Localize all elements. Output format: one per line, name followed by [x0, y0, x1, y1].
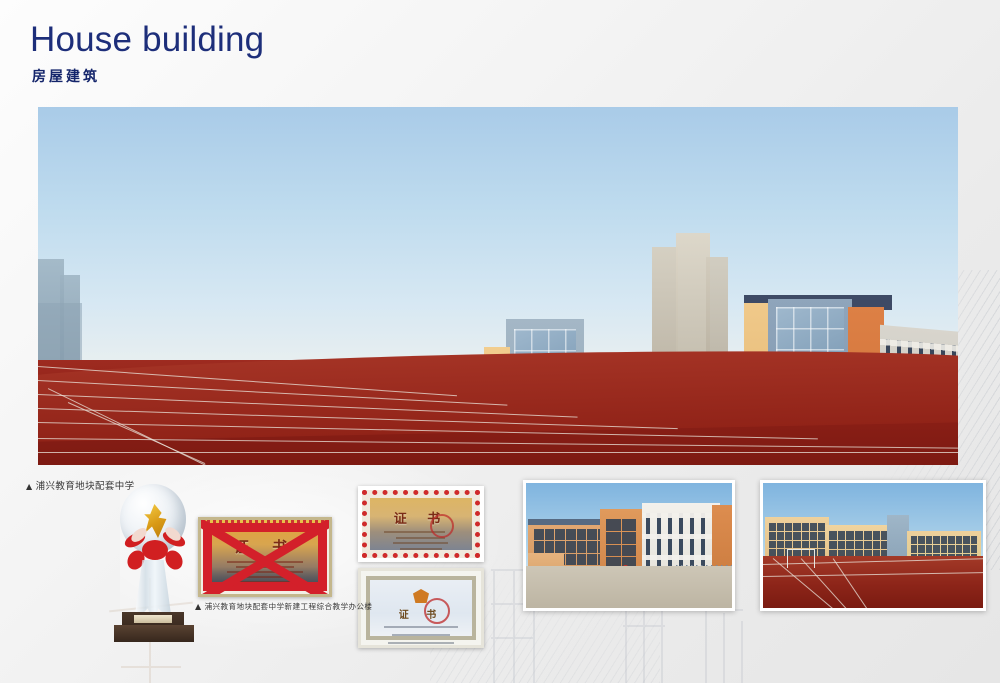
distant-apartment-tower	[676, 233, 710, 363]
crystal-award-trophy	[104, 484, 204, 646]
certificate-crest-icon	[413, 589, 429, 603]
trophy-nameplate	[134, 615, 172, 623]
certificate-dotted-border: 证 书	[358, 486, 484, 562]
photo-foreground-pavement	[526, 566, 732, 609]
certificate-red-border: 证 书	[198, 517, 332, 597]
certificate-blue-frame: 证 书	[358, 568, 484, 648]
certificate-dotted-frame	[362, 490, 480, 558]
certificate-heading: 证 书	[370, 606, 472, 621]
certificate-body-lines	[213, 558, 317, 586]
goalpost	[787, 549, 815, 568]
lane-line	[763, 572, 986, 577]
lane-line	[832, 558, 869, 611]
page-title-cn: 房屋建筑	[32, 66, 264, 86]
certificate-caption-text: 浦兴教育地块配套中学新建工程综合教学办公楼	[205, 602, 373, 611]
certificate-heading: 证 书	[201, 536, 329, 557]
centre-block-windows	[606, 519, 636, 569]
running-track	[38, 360, 958, 465]
photo-school-track	[760, 480, 986, 611]
certificate-artwork: 证 书	[366, 576, 476, 640]
lane-line	[38, 438, 958, 449]
certificate-top-band	[201, 520, 329, 526]
trophy-base-lower	[114, 625, 194, 642]
caption-marker-icon: ▲	[195, 602, 202, 611]
distant-apartment-tower	[706, 257, 728, 363]
photo-school-gate	[523, 480, 735, 611]
hero-photo-campus-panorama	[38, 107, 958, 465]
certificate-group-caption: ▲浦兴教育地块配套中学新建工程综合教学办公楼	[195, 601, 372, 612]
page-header: House building 房屋建筑	[30, 22, 264, 86]
caption-marker-icon: ▲	[26, 482, 33, 491]
certificate-seal	[424, 598, 450, 624]
distant-apartment-tower	[652, 247, 678, 363]
page-title-en: House building	[30, 22, 264, 59]
